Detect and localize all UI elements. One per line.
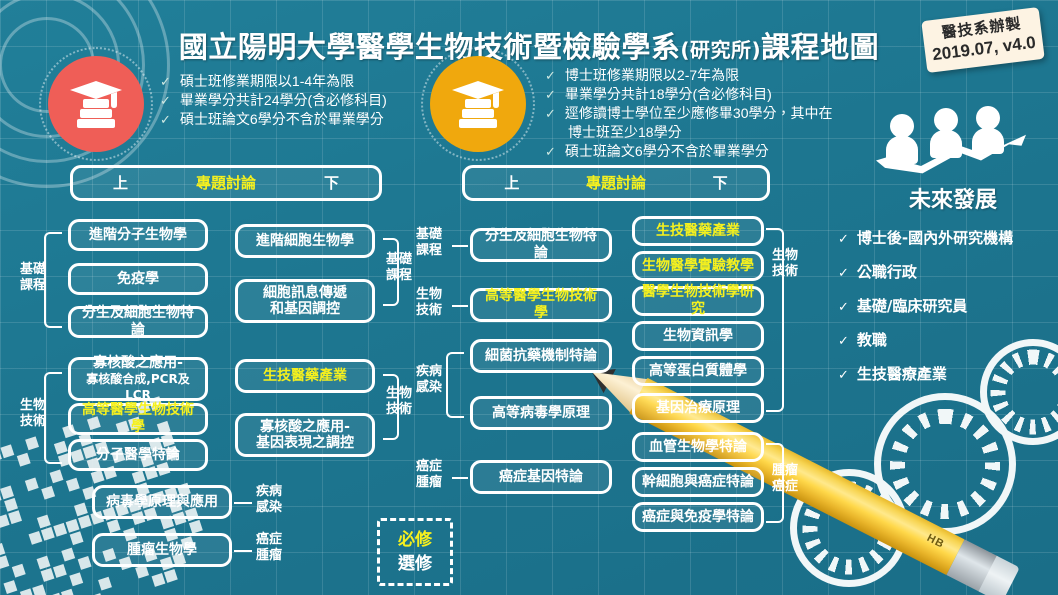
requirement-item: ✓碩士班修業期限以1-4年為限 — [160, 72, 387, 91]
requirement-text: 碩士班論文6學分不含於畢業學分 — [565, 143, 769, 159]
check-icon: ✓ — [838, 266, 849, 281]
master-requirements-list: ✓碩士班修業期限以1-4年為限 ✓畢業學分共計24學分(含必修科目) ✓碩士班論… — [160, 72, 387, 129]
course-box[interactable]: 高等醫學生物技術學 — [470, 288, 612, 322]
connector-line — [452, 305, 468, 307]
check-icon: ✓ — [545, 144, 556, 159]
page-title-suffix: 課程地圖 — [761, 30, 879, 64]
group-label-cancer: 癌症腫瘤 — [248, 532, 290, 564]
future-item: ✓生技醫療產業 — [838, 358, 1013, 392]
phd-requirements-list: ✓博士班修業期限以2-7年為限 ✓畢業學分共計18學分(含必修科目) ✓逕修讀博… — [545, 66, 832, 161]
requirement-text: 碩士班修業期限以1-4年為限 — [180, 73, 354, 89]
course-box[interactable]: 細胞訊息傳遞 和基因調控 — [235, 279, 375, 323]
course-box[interactable]: 癌症基因特論 — [470, 460, 612, 494]
course-label-line1: 寡核酸之應用- — [93, 355, 183, 371]
legend-box: 必修 選修 — [377, 518, 453, 586]
course-box[interactable]: 生物醫學實驗教學 — [632, 251, 764, 281]
course-box[interactable]: 分子醫學特論 — [68, 439, 208, 471]
course-box[interactable]: 分生及細胞生物特論 — [470, 228, 612, 262]
course-box[interactable]: 高等病毒學原理 — [470, 396, 612, 430]
people-growth-arrow-icon — [876, 106, 1026, 178]
page-title-paren: (研究所) — [680, 38, 761, 62]
course-label-line2: 基因表現之調控 — [256, 435, 354, 451]
growth-arrow-icon — [876, 132, 1026, 178]
master-graduation-cap-icon — [48, 56, 144, 152]
requirement-text: 博士班修業期限以2-7年為限 — [565, 67, 739, 83]
legend-required: 必修 — [398, 528, 432, 552]
seminar-right-term: 下 — [713, 175, 728, 192]
phd-graduation-cap-icon — [430, 56, 526, 152]
requirement-item: ✓碩士班論文6學分不含於畢業學分 — [545, 142, 832, 161]
seminar-left-term: 上 — [504, 175, 519, 192]
course-box[interactable]: 免疫學 — [68, 263, 208, 295]
course-label-line1: 細胞訊息傳遞 — [263, 285, 347, 301]
course-label-line2: 和基因調控 — [270, 301, 340, 317]
future-item-text: 教職 — [857, 331, 887, 349]
group-label-biotech: 生物技術 — [408, 287, 450, 319]
requirement-item: ✓畢業學分共計18學分(含必修科目) — [545, 85, 832, 104]
seminar-left-term: 上 — [113, 175, 128, 192]
group-label-basic: 基礎課程 — [408, 227, 450, 259]
course-box[interactable]: 高等蛋白質體學 — [632, 356, 764, 386]
future-item: ✓公職行政 — [838, 256, 1013, 290]
check-icon: ✓ — [545, 68, 556, 83]
check-icon: ✓ — [838, 334, 849, 349]
course-box[interactable]: 生物資訊學 — [632, 321, 764, 351]
future-item-text: 生技醫療產業 — [857, 365, 947, 383]
requirement-item: ✓逕修讀博士學位至少應修畢30學分，其中在 — [545, 104, 832, 123]
seminar-title: 專題討論 — [586, 175, 646, 192]
course-box[interactable]: 血管生物學特論 — [632, 432, 764, 462]
group-label-basic: 基礎課程 — [12, 262, 54, 294]
requirement-item: ✓碩士班論文6學分不含於畢業學分 — [160, 110, 387, 129]
course-box[interactable]: 進階細胞生物學 — [235, 224, 375, 258]
connector-line — [452, 477, 468, 479]
course-box[interactable]: 細菌抗藥機制特論 — [470, 339, 612, 373]
seminar-right-term: 下 — [324, 175, 339, 192]
course-box[interactable]: 分生及細胞生物特論 — [68, 306, 208, 338]
course-box[interactable]: 寡核酸之應用- 寡核酸合成,PCR及LCR — [68, 357, 208, 401]
future-development-title: 未來發展 — [868, 182, 1038, 214]
course-box[interactable]: 幹細胞與癌症特論 — [632, 467, 764, 497]
check-icon: ✓ — [838, 300, 849, 315]
future-item-text: 基礎/臨床研究員 — [857, 297, 967, 315]
page-title: 國立陽明大學醫學生物技術暨檢驗學系(研究所)課程地圖 — [0, 24, 1058, 66]
future-development-list: ✓博士後-國內外研究機構 ✓公職行政 ✓基礎/臨床研究員 ✓教職 ✓生技醫療產業 — [838, 222, 1013, 392]
check-icon: ✓ — [160, 93, 171, 108]
course-box[interactable]: 進階分子生物學 — [68, 219, 208, 251]
future-item: ✓教職 — [838, 324, 1013, 358]
check-icon: ✓ — [838, 368, 849, 383]
course-box[interactable]: 寡核酸之應用- 基因表現之調控 — [235, 413, 375, 457]
check-icon: ✓ — [160, 112, 171, 127]
course-box[interactable]: 生技醫藥產業 — [235, 359, 375, 393]
course-box[interactable]: 基因治療原理 — [632, 393, 764, 423]
requirement-item-continuation: 博士班至少18學分 — [545, 123, 832, 142]
course-box[interactable]: 腫瘤生物學 — [92, 533, 232, 567]
check-icon: ✓ — [160, 74, 171, 89]
check-icon: ✓ — [838, 232, 849, 247]
phd-seminar-box[interactable]: 上 專題討論 下 — [462, 165, 770, 201]
legend-elective: 選修 — [398, 552, 432, 576]
group-label-cancer: 癌症腫瘤 — [408, 459, 450, 491]
requirement-text: 畢業學分共計18學分(含必修科目) — [565, 86, 772, 102]
course-box[interactable]: 醫學生物技術學研究 — [632, 286, 764, 316]
future-item-text: 博士後-國內外研究機構 — [857, 229, 1013, 247]
future-item-text: 公職行政 — [857, 263, 917, 281]
group-label-biotech: 生物技術 — [764, 248, 806, 280]
requirement-text: 畢業學分共計24學分(含必修科目) — [180, 92, 387, 108]
group-label-infection: 疾病感染 — [408, 364, 450, 396]
group-label-biotech: 生物技術 — [12, 398, 54, 430]
future-item: ✓博士後-國內外研究機構 — [838, 222, 1013, 256]
group-label-infection: 疾病感染 — [248, 484, 290, 516]
course-box[interactable]: 高等醫學生物技術學 — [68, 403, 208, 435]
requirement-item: ✓博士班修業期限以2-7年為限 — [545, 66, 832, 85]
requirement-text: 逕修讀博士學位至少應修畢30學分，其中在 — [565, 105, 833, 121]
future-item: ✓基礎/臨床研究員 — [838, 290, 1013, 324]
course-map-canvas: HB 國立陽明大學醫學生物技術暨檢驗學系(研究所)課程地圖 醫技系辦製 2019… — [0, 0, 1058, 595]
seminar-title: 專題討論 — [196, 175, 256, 192]
connector-line — [452, 245, 468, 247]
requirement-text: 碩士班論文6學分不含於畢業學分 — [180, 111, 384, 127]
course-box[interactable]: 病毒學原理與應用 — [92, 485, 232, 519]
course-label-line1: 寡核酸之應用- — [260, 419, 350, 435]
course-box[interactable]: 癌症與免疫學特論 — [632, 502, 764, 532]
master-seminar-box[interactable]: 上 專題討論 下 — [70, 165, 382, 201]
course-label-line2: 寡核酸合成,PCR及LCR — [77, 371, 199, 403]
check-icon: ✓ — [545, 106, 556, 121]
requirement-item: ✓畢業學分共計24學分(含必修科目) — [160, 91, 387, 110]
group-label-tumor-cancer: 腫瘤癌症 — [764, 463, 806, 495]
check-icon: ✓ — [545, 87, 556, 102]
course-box[interactable]: 生技醫藥產業 — [632, 216, 764, 246]
page-title-main: 國立陽明大學醫學生物技術暨檢驗學系 — [179, 30, 681, 64]
